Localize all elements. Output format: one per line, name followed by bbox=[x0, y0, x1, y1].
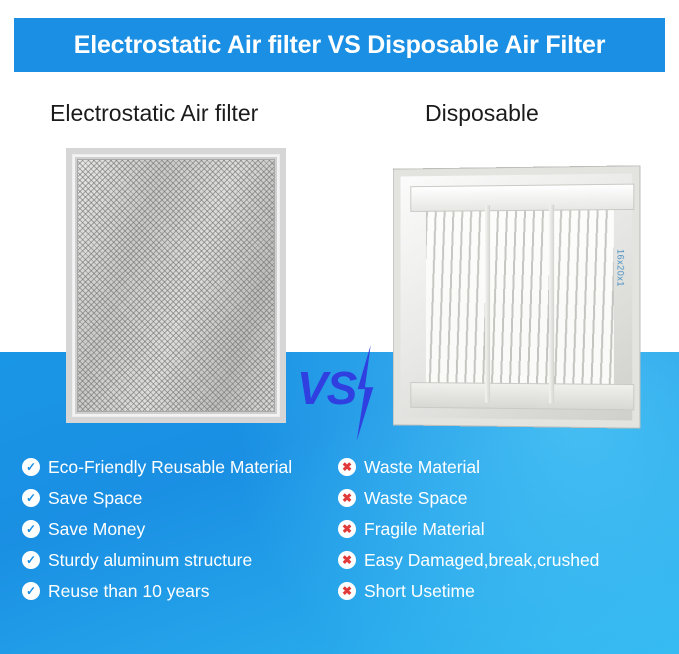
check-icon: ✓ bbox=[22, 582, 40, 600]
list-item: ✓ Save Space bbox=[22, 483, 342, 513]
cross-icon: ✖ bbox=[338, 489, 356, 507]
header-banner: Electrostatic Air filter VS Disposable A… bbox=[14, 18, 665, 72]
list-item: ✓ Save Money bbox=[22, 514, 342, 544]
filter-body: 16x20x1 bbox=[394, 166, 640, 427]
list-item-label: Fragile Material bbox=[364, 519, 485, 540]
list-item-label: Sturdy aluminum structure bbox=[48, 550, 252, 571]
page-title: Electrostatic Air filter VS Disposable A… bbox=[74, 31, 606, 60]
list-item: ✓ Eco-Friendly Reusable Material bbox=[22, 452, 342, 482]
list-item-label: Reuse than 10 years bbox=[48, 581, 210, 602]
frame-bottom-edge bbox=[410, 382, 634, 410]
vs-badge: VS bbox=[297, 345, 393, 441]
check-icon: ✓ bbox=[22, 520, 40, 538]
list-item: ✖ Easy Damaged,break,crushed bbox=[338, 545, 668, 575]
list-item-label: Save Space bbox=[48, 488, 142, 509]
list-item-label: Eco-Friendly Reusable Material bbox=[48, 457, 292, 478]
list-item-label: Waste Material bbox=[364, 457, 480, 478]
check-icon: ✓ bbox=[22, 458, 40, 476]
lightning-bolt-icon bbox=[353, 345, 379, 441]
cross-icon: ✖ bbox=[338, 520, 356, 538]
support-brace-right bbox=[549, 205, 554, 404]
check-icon: ✓ bbox=[22, 489, 40, 507]
cons-list: ✖ Waste Material ✖ Waste Space ✖ Fragile… bbox=[338, 452, 668, 607]
frame-top-edge bbox=[410, 184, 634, 212]
list-item: ✖ Waste Space bbox=[338, 483, 668, 513]
pleated-media bbox=[426, 208, 614, 396]
list-item-label: Short Usetime bbox=[364, 581, 475, 602]
mesh-texture bbox=[77, 159, 275, 412]
cross-icon: ✖ bbox=[338, 458, 356, 476]
list-item-label: Easy Damaged,break,crushed bbox=[364, 550, 599, 571]
cross-icon: ✖ bbox=[338, 582, 356, 600]
pros-list: ✓ Eco-Friendly Reusable Material ✓ Save … bbox=[22, 452, 342, 607]
electrostatic-air-filter-photo bbox=[66, 148, 286, 423]
cross-icon: ✖ bbox=[338, 551, 356, 569]
list-item-label: Save Money bbox=[48, 519, 145, 540]
list-item: ✓ Reuse than 10 years bbox=[22, 576, 342, 606]
list-item: ✖ Short Usetime bbox=[338, 576, 668, 606]
check-icon: ✓ bbox=[22, 551, 40, 569]
list-item: ✖ Waste Material bbox=[338, 452, 668, 482]
vs-label: VS bbox=[297, 361, 356, 415]
left-column-title: Electrostatic Air filter bbox=[50, 100, 258, 127]
support-brace-left bbox=[485, 205, 490, 402]
comparison-infographic: Electrostatic Air filter VS Disposable A… bbox=[0, 0, 679, 654]
list-item: ✓ Sturdy aluminum structure bbox=[22, 545, 342, 575]
list-item-label: Waste Space bbox=[364, 488, 467, 509]
disposable-air-filter-photo: 16x20x1 bbox=[392, 168, 638, 426]
list-item: ✖ Fragile Material bbox=[338, 514, 668, 544]
right-column-title: Disposable bbox=[425, 100, 539, 127]
filter-size-label: 16x20x1 bbox=[616, 249, 626, 287]
